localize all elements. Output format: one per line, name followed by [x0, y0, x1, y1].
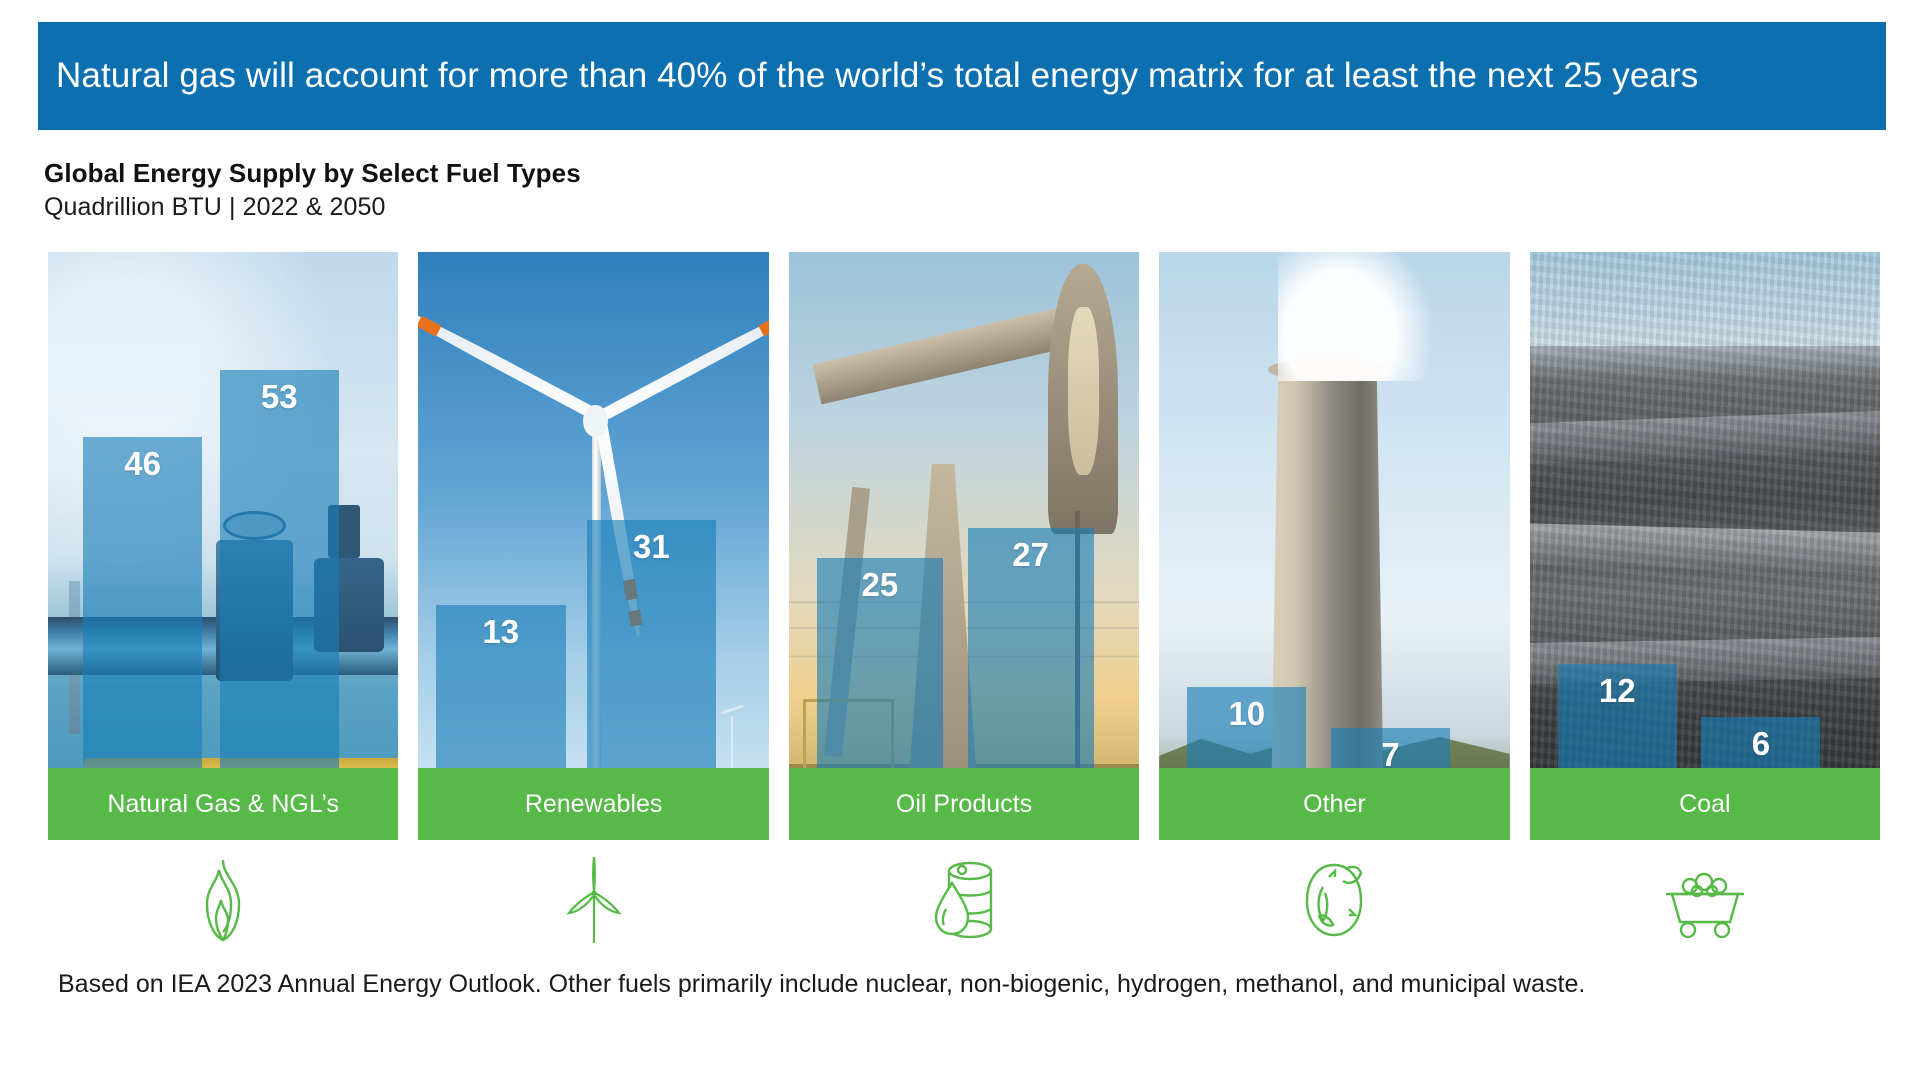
- panel-label-natural-gas: Natural Gas & NGL’s: [48, 768, 398, 840]
- oil-barrel-icon: [928, 857, 1000, 943]
- panel-label-text: Other: [1297, 790, 1372, 819]
- infographic-slide: Natural gas will account for more than 4…: [0, 0, 1920, 1080]
- headline-banner: Natural gas will account for more than 4…: [38, 22, 1886, 130]
- bar-group-coal: 12 6: [1530, 252, 1880, 840]
- fuel-panels-row: 46 53 Natural Gas & NGL’s: [48, 252, 1880, 840]
- bar-group-natural-gas: 46 53: [48, 252, 398, 840]
- headline-text: Natural gas will account for more than 4…: [56, 54, 1698, 99]
- panel-natural-gas[interactable]: 46 53 Natural Gas & NGL’s: [48, 252, 398, 840]
- panel-oil-products[interactable]: 25 27 Oil Products: [789, 252, 1139, 840]
- icon-cell-oil-products: [789, 848, 1139, 952]
- footnote-text: Based on IEA 2023 Annual Energy Outlook.…: [58, 968, 1858, 1001]
- bar-group-other: 10 7: [1159, 252, 1509, 840]
- panel-label-text: Natural Gas & NGL’s: [101, 790, 345, 819]
- bar-group-renewables: 13 31: [418, 252, 768, 840]
- panel-renewables[interactable]: 13 31 Renewables: [418, 252, 768, 840]
- bar-group-oil-products: 25 27: [789, 252, 1139, 840]
- panel-label-other: Other: [1159, 768, 1509, 840]
- page-title: Global Energy Supply by Select Fuel Type…: [44, 158, 581, 189]
- fuel-icons-row: [48, 848, 1880, 952]
- panel-other[interactable]: 10 7 Other: [1159, 252, 1509, 840]
- panel-label-oil-products: Oil Products: [789, 768, 1139, 840]
- icon-cell-natural-gas: [48, 848, 398, 952]
- recycle-leaf-icon: [1299, 857, 1369, 943]
- icon-cell-coal: [1530, 848, 1880, 952]
- icon-cell-renewables: [418, 848, 768, 952]
- panel-coal[interactable]: 12 6 Coal: [1530, 252, 1880, 840]
- wind-turbine-icon: [563, 855, 625, 945]
- flame-icon: [190, 856, 256, 944]
- panel-label-renewables: Renewables: [418, 768, 768, 840]
- icon-cell-other: [1159, 848, 1509, 952]
- panel-label-text: Renewables: [519, 790, 669, 819]
- page-subtitle: Quadrillion BTU | 2022 & 2050: [44, 193, 386, 222]
- coal-cart-icon: [1662, 860, 1748, 940]
- panel-label-text: Oil Products: [890, 790, 1038, 819]
- panel-label-text: Coal: [1673, 790, 1736, 819]
- panel-label-coal: Coal: [1530, 768, 1880, 840]
